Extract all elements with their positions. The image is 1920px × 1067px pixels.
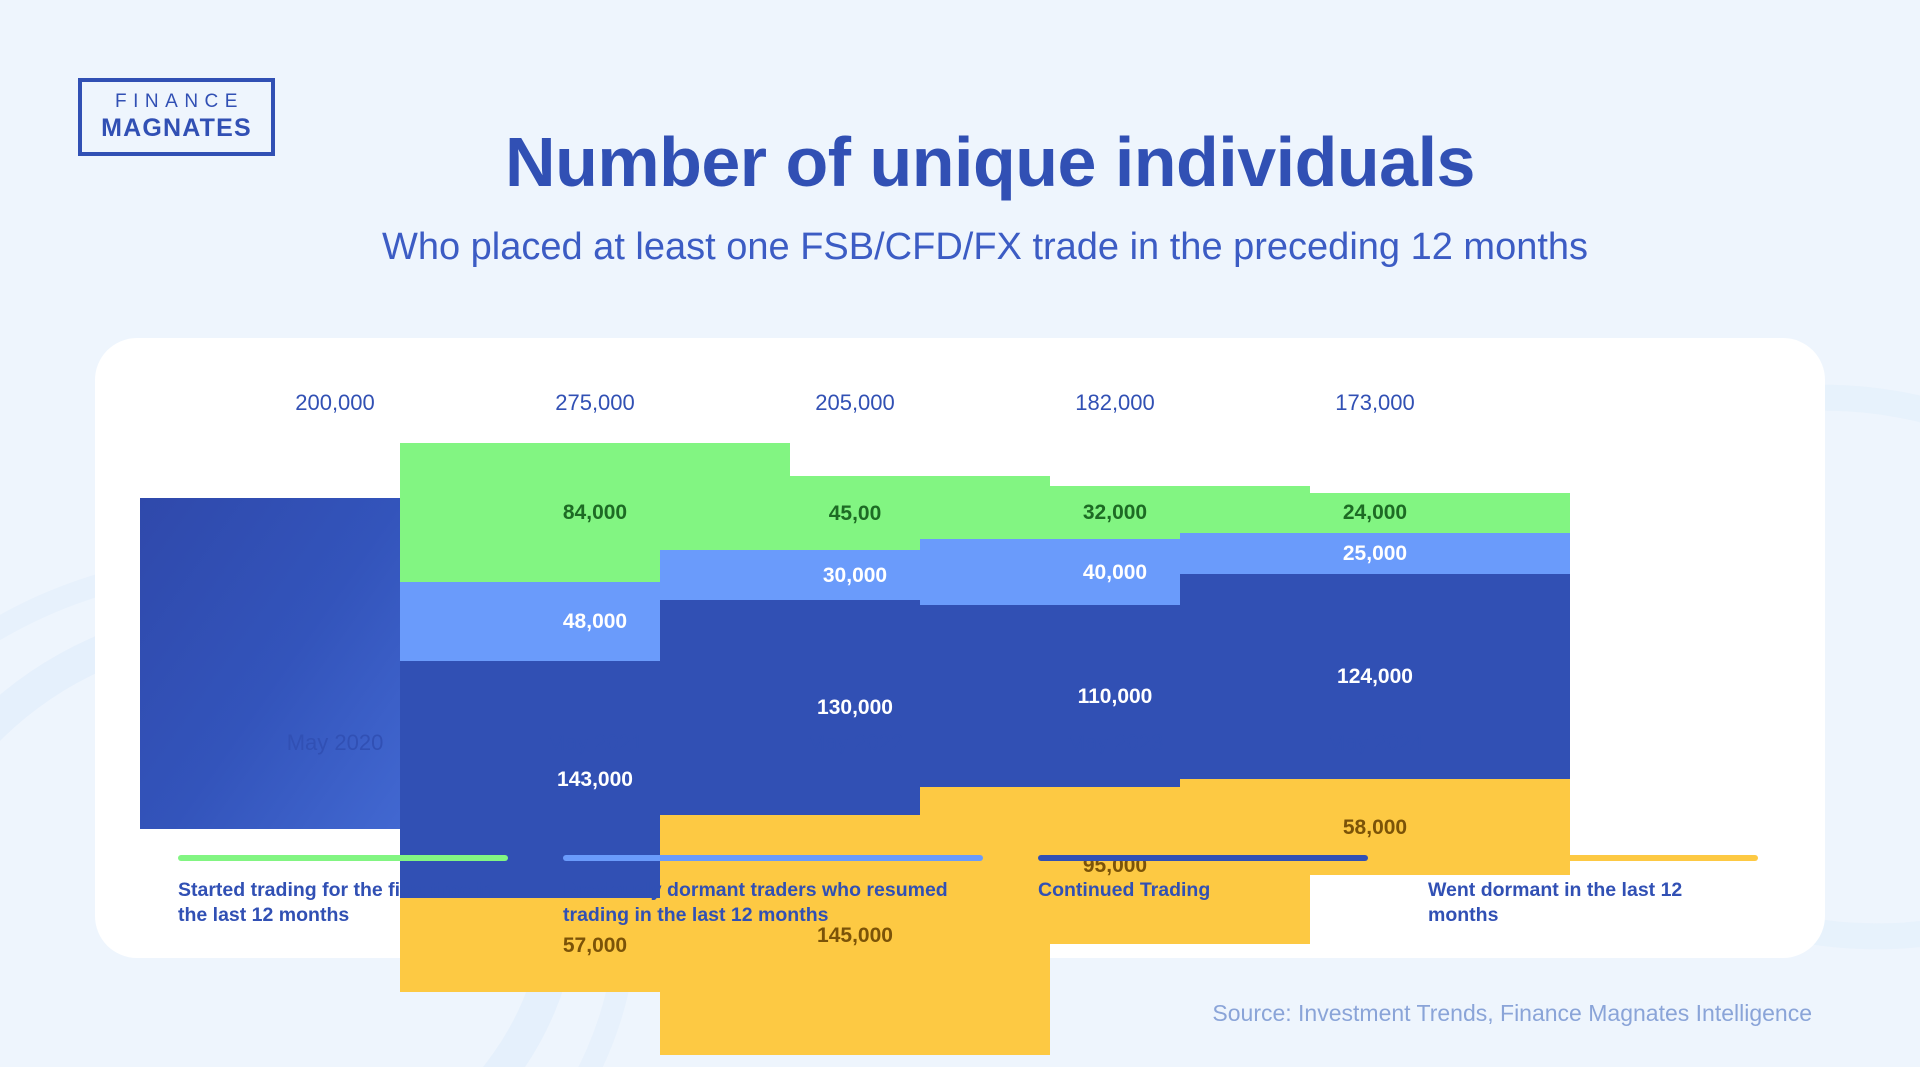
bar-segment-resumed: 25,000 [1180, 533, 1570, 574]
bar-segment-new: 24,000 [1180, 493, 1570, 533]
legend-swatch-cont [1038, 855, 1368, 861]
x-axis-label: May 2024 [1180, 730, 1570, 756]
column-total-label: 173,000 [1180, 390, 1570, 416]
legend-label-new: Started trading for the first time in th… [178, 878, 508, 928]
chart-legend: Started trading for the first time in th… [178, 855, 1778, 955]
legend-item-cont[interactable]: Continued Trading [1038, 855, 1368, 903]
legend-swatch-dormant [1428, 855, 1758, 861]
brand-logo-line1: FINANCE [109, 91, 244, 113]
column-stack: 24,00025,000124,00058,000 [1180, 493, 1570, 875]
legend-swatch-new [178, 855, 508, 861]
source-note: Source: Investment Trends, Finance Magna… [1212, 1000, 1812, 1027]
legend-label-resumed: Previously dormant traders who resumed t… [563, 878, 983, 928]
page-title: Number of unique individuals [0, 122, 1920, 202]
legend-swatch-resumed [563, 855, 983, 861]
legend-label-dormant: Went dormant in the last 12 months [1428, 878, 1758, 928]
legend-item-new[interactable]: Started trading for the first time in th… [178, 855, 508, 928]
page-subtitle: Who placed at least one FSB/CFD/FX trade… [0, 226, 1920, 269]
legend-item-dormant[interactable]: Went dormant in the last 12 months [1428, 855, 1758, 928]
legend-item-resumed[interactable]: Previously dormant traders who resumed t… [563, 855, 983, 928]
legend-label-cont: Continued Trading [1038, 878, 1368, 903]
